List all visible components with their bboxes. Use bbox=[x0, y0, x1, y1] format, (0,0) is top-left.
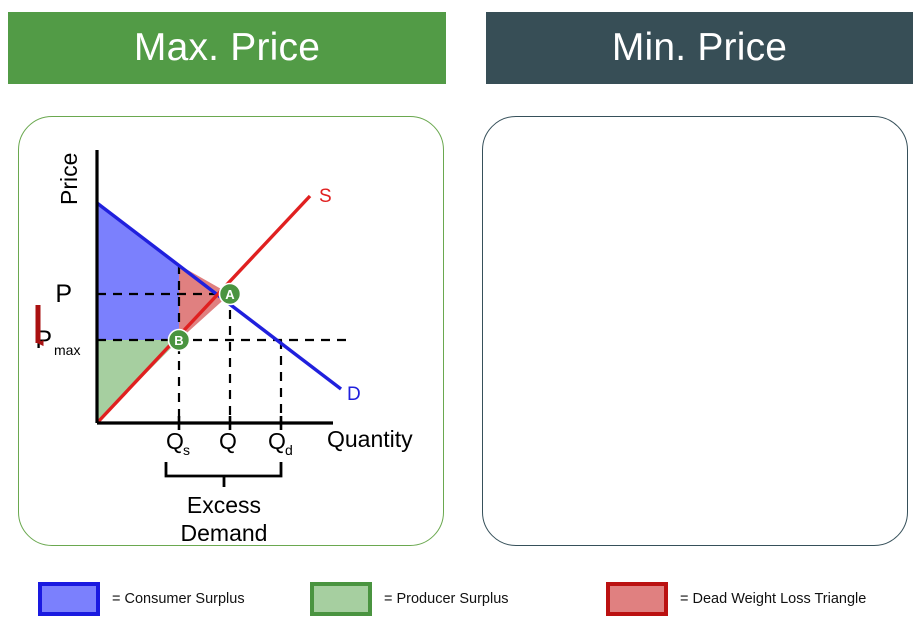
legend-item-dead-weight-loss: = Dead Weight Loss Triangle bbox=[606, 582, 866, 616]
consumer-surplus-swatch-icon bbox=[38, 582, 100, 616]
quantity-tick-q-label: Q bbox=[219, 428, 237, 454]
quantity-tick-qs-label: Q bbox=[166, 428, 184, 454]
x-axis-label: Quantity bbox=[327, 426, 413, 452]
marker-b-label: B bbox=[174, 333, 183, 348]
quantity-tick-qd: Q d bbox=[268, 428, 293, 458]
producer-surplus-swatch-icon bbox=[310, 582, 372, 616]
legend-item-consumer-surplus: = Consumer Surplus bbox=[38, 582, 245, 616]
excess-demand-caption-line1: Excess bbox=[187, 492, 261, 518]
quantity-tick-q: Q bbox=[219, 428, 237, 454]
quantity-tick-qs-sub: s bbox=[183, 442, 190, 458]
price-tick-p-label: P bbox=[55, 280, 72, 308]
control-marker-b: B bbox=[169, 330, 190, 351]
legend-item-producer-surplus: = Producer Surplus bbox=[310, 582, 509, 616]
excess-demand-caption-line2: Demand bbox=[181, 520, 268, 546]
equilibrium-marker-a: A bbox=[220, 284, 241, 305]
marker-a-label: A bbox=[225, 287, 235, 302]
legend: = Consumer Surplus = Producer Surplus = … bbox=[0, 578, 921, 626]
legend-label-producer-surplus: = Producer Surplus bbox=[384, 591, 509, 607]
price-tick-pmax: P max bbox=[35, 326, 80, 358]
diagram-root: Max. Price Min. Price bbox=[0, 0, 921, 627]
max-price-chart: A B S D Price Quantity P P max bbox=[35, 150, 413, 546]
supply-label: S bbox=[319, 186, 332, 207]
demand-label: D bbox=[347, 384, 361, 405]
quantity-tick-qs: Q s bbox=[166, 428, 190, 458]
y-axis-label: Price bbox=[56, 153, 82, 205]
price-tick-pmax-sub: max bbox=[54, 342, 80, 358]
price-tick-p: P bbox=[55, 280, 72, 308]
panel-min-price bbox=[482, 116, 908, 546]
legend-label-consumer-surplus: = Consumer Surplus bbox=[112, 591, 245, 607]
dead-weight-loss-swatch-icon bbox=[606, 582, 668, 616]
quantity-tick-qd-label: Q bbox=[268, 428, 286, 454]
excess-demand-brace bbox=[166, 462, 281, 487]
legend-label-dead-weight-loss: = Dead Weight Loss Triangle bbox=[680, 591, 866, 607]
quantity-tick-qd-sub: d bbox=[285, 442, 293, 458]
consumer-surplus-region bbox=[97, 203, 179, 340]
